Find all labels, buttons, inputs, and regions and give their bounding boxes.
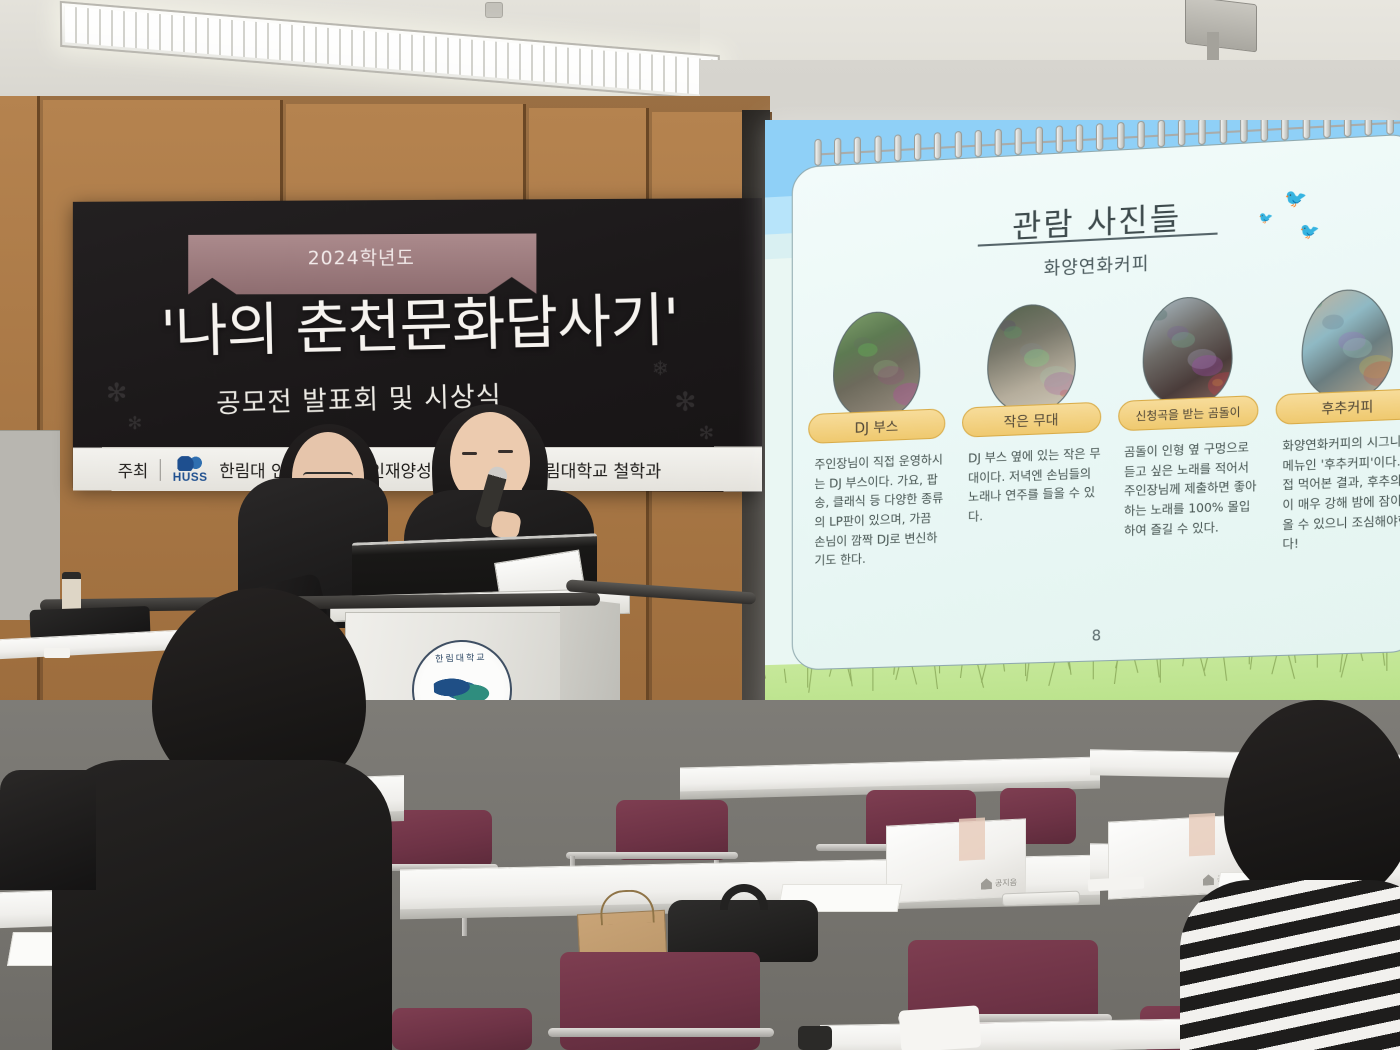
white-object-foreground [899,1005,982,1050]
spiral-ring [1096,123,1103,151]
card-pill-label: 신청곡을 받는 곰돌이 [1118,395,1259,431]
card-pill-label: 후추커피 [1276,388,1400,425]
divider [160,459,161,481]
grass-blade [1133,659,1138,673]
slide-card: 신청곡을 받는 곰돌이 곰돌이 인형 옆 구멍으로 듣고 싶은 노래를 적어서 … [1118,294,1259,651]
ceiling-speaker-stem [1207,32,1219,62]
photo-texture [877,365,904,385]
spiral-ring [1302,120,1310,139]
grass-blade [1250,655,1253,670]
slide-card: DJ 부스 주인장님이 직접 운영하시는 DJ 부스이다. 가요, 팝송, 클래… [808,309,945,660]
photo-texture [1364,360,1393,387]
huss-logo: HUSS [173,456,208,483]
ceiling-speaker [1185,0,1257,52]
grass-blade [784,669,787,683]
bird-icon: 🐦 [1299,221,1319,241]
wall-trim [0,430,60,620]
grass-blade [911,665,917,684]
grass-blade [849,667,852,687]
card-caption: 화양연화커피의 시그니처 메뉴인 '후추커피'이다. 직접 먹어본 결과, 후추… [1276,431,1400,555]
photo-texture [1024,349,1049,368]
huss-mark-icon [177,456,203,471]
spiral-ring [1158,120,1165,147]
photo-texture [1322,314,1344,330]
dark-object-foreground [798,1026,832,1050]
presentation-slide: 관람 사진들 화양연화커피 🐦 🐦 🐦 DJ 부스 주인장님이 직접 운영하시는… [765,120,1400,720]
spiral-ring [1344,120,1352,137]
huss-logo-text: HUSS [173,471,208,483]
gift-box: 공지음 [886,818,1026,903]
snowflake-decor: ✻ [699,423,714,444]
spiral-ring [1219,120,1227,144]
card-caption: DJ 부스 옆에 있는 작은 무대이다. 저녁엔 손님들의 노래나 연주를 들을… [962,444,1101,527]
spiral-ring [1117,122,1124,150]
grass-blade [1317,653,1318,668]
spiral-ring [1076,124,1083,152]
grass-blade [1027,661,1030,681]
presenter-right-eye [498,450,513,453]
sprinkler-head [485,2,503,18]
grass-blade [1069,660,1072,675]
bird-icon: 🐦 [1284,188,1307,210]
spiral-ring [1015,128,1022,156]
spiral-ring [874,135,881,162]
spiral-ring [914,133,921,160]
photo-texture [1044,371,1076,395]
presenter-right-eye [462,452,477,455]
snowflake-decor: ❄ [652,356,669,381]
paper-note [44,648,70,658]
chair-arm [566,852,738,859]
grass-blade [1160,657,1161,682]
chair [392,1008,532,1050]
smartphone [1002,891,1080,907]
bear-doll-photo [1143,295,1233,408]
slide-photo-cards: DJ 부스 주인장님이 직접 운영하시는 DJ 부스이다. 가요, 팝송, 클래… [808,286,1400,660]
grass-blade [1048,661,1055,686]
spiral-ring [1281,120,1289,141]
spiral-ring [995,129,1002,156]
snowflake-decor: ✻ [106,378,127,409]
grass-blade [1092,659,1093,679]
pepper-coffee-photo [1302,287,1393,401]
chair-arm [548,1028,774,1037]
photo-texture [838,320,850,329]
spiral-ring [1386,120,1394,135]
grass-blade [765,669,766,678]
chair [616,800,728,860]
photo-texture [1172,331,1196,348]
card-pill-label: 작은 무대 [962,402,1101,438]
spiral-ring [934,132,941,159]
spiral-ring [1261,120,1269,142]
grass-blade [1272,654,1278,674]
grass-blade [807,668,808,688]
emblem-top-text: 한림대학교 [435,650,487,665]
card-caption: 곰돌이 인형 옆 구멍으로 듣고 싶은 노래를 적어서 주인장님께 제출하면 좋… [1118,437,1259,540]
spiral-ring [1178,120,1185,146]
dj-booth-photo [833,310,920,422]
grass-blade [895,666,900,680]
spiral-ring [1365,120,1373,136]
banner-ribbon: 2024학년도 [188,233,536,294]
grass-blade [1223,656,1227,681]
snowflake-decor: ✻ [674,386,696,417]
spiral-ring [834,138,841,165]
audience-far-left-shoulder [0,770,96,890]
bird-icon: 🐦 [1258,211,1273,225]
spiral-ring [1035,126,1042,154]
slide-card: 작은 무대 DJ 부스 옆에 있는 작은 무대이다. 저녁엔 손님들의 노래나 … [962,301,1101,655]
house-icon [981,878,992,890]
banner-sponsor-strip: 주최 HUSS 한림대 인문사회융합 인재양성사업단 철 한림대학교 철학과 [73,447,762,492]
spiral-ring [1323,120,1331,138]
photo-texture [1004,326,1022,339]
spiral-ring [1055,125,1062,153]
photo-texture [1152,309,1168,321]
house-icon [1203,874,1214,886]
slide-page-number: 8 [1092,628,1101,645]
grass-blade [1386,651,1387,671]
audience-front-left-body [52,760,392,1050]
spiral-ring [954,131,961,158]
bird-decor-group: 🐦 🐦 🐦 [1256,183,1353,253]
spiral-ring [854,137,861,164]
sponsor2-name: 한림대학교 철학과 [529,457,661,482]
gift-box-logo: 공지음 [981,877,1017,890]
projection-screen: 관람 사진들 화양연화커피 🐦 🐦 🐦 DJ 부스 주인장님이 직접 운영하시는… [765,120,1400,720]
grass-blade [873,666,874,691]
gift-box-logo-text: 공지음 [995,877,1017,889]
host-label: 주최 [118,457,149,482]
slide-card: 후추커피 화양연화커피의 시그니처 메뉴인 '후추커피'이다. 직접 먹어본 결… [1276,286,1400,645]
spiral-ring [974,130,981,157]
banner-ribbon-text: 2024학년도 [308,243,415,270]
grass-blade [960,663,963,678]
spiral-ring [1199,120,1207,145]
spiral-ring [1137,121,1144,149]
photo-texture [1306,297,1322,309]
gift-box-tape [959,817,985,860]
photo-texture [1343,337,1372,358]
card-pill-label: DJ 부스 [808,408,945,444]
banner-title: '나의 춘천문화답사기' [105,288,736,364]
grass-blade [808,668,812,693]
photo-texture [858,343,878,358]
spiral-ring [894,134,901,161]
spiral-ring [1240,120,1248,143]
small-stage-photo [987,302,1076,414]
photo-texture [893,382,920,406]
gift-box-tape [1189,813,1215,856]
lecture-hall-photo: ✻ ✻ ✻ ✻ ❄ 2024학년도 '나의 춘천문화답사기' 공모전 발표회 및… [0,0,1400,1050]
audience-front-right-body [1180,880,1400,1050]
card-caption: 주인장님이 직접 운영하시는 DJ 부스이다. 가요, 팝송, 클래식 등 다양… [808,450,945,571]
spiral-ring [814,139,821,166]
